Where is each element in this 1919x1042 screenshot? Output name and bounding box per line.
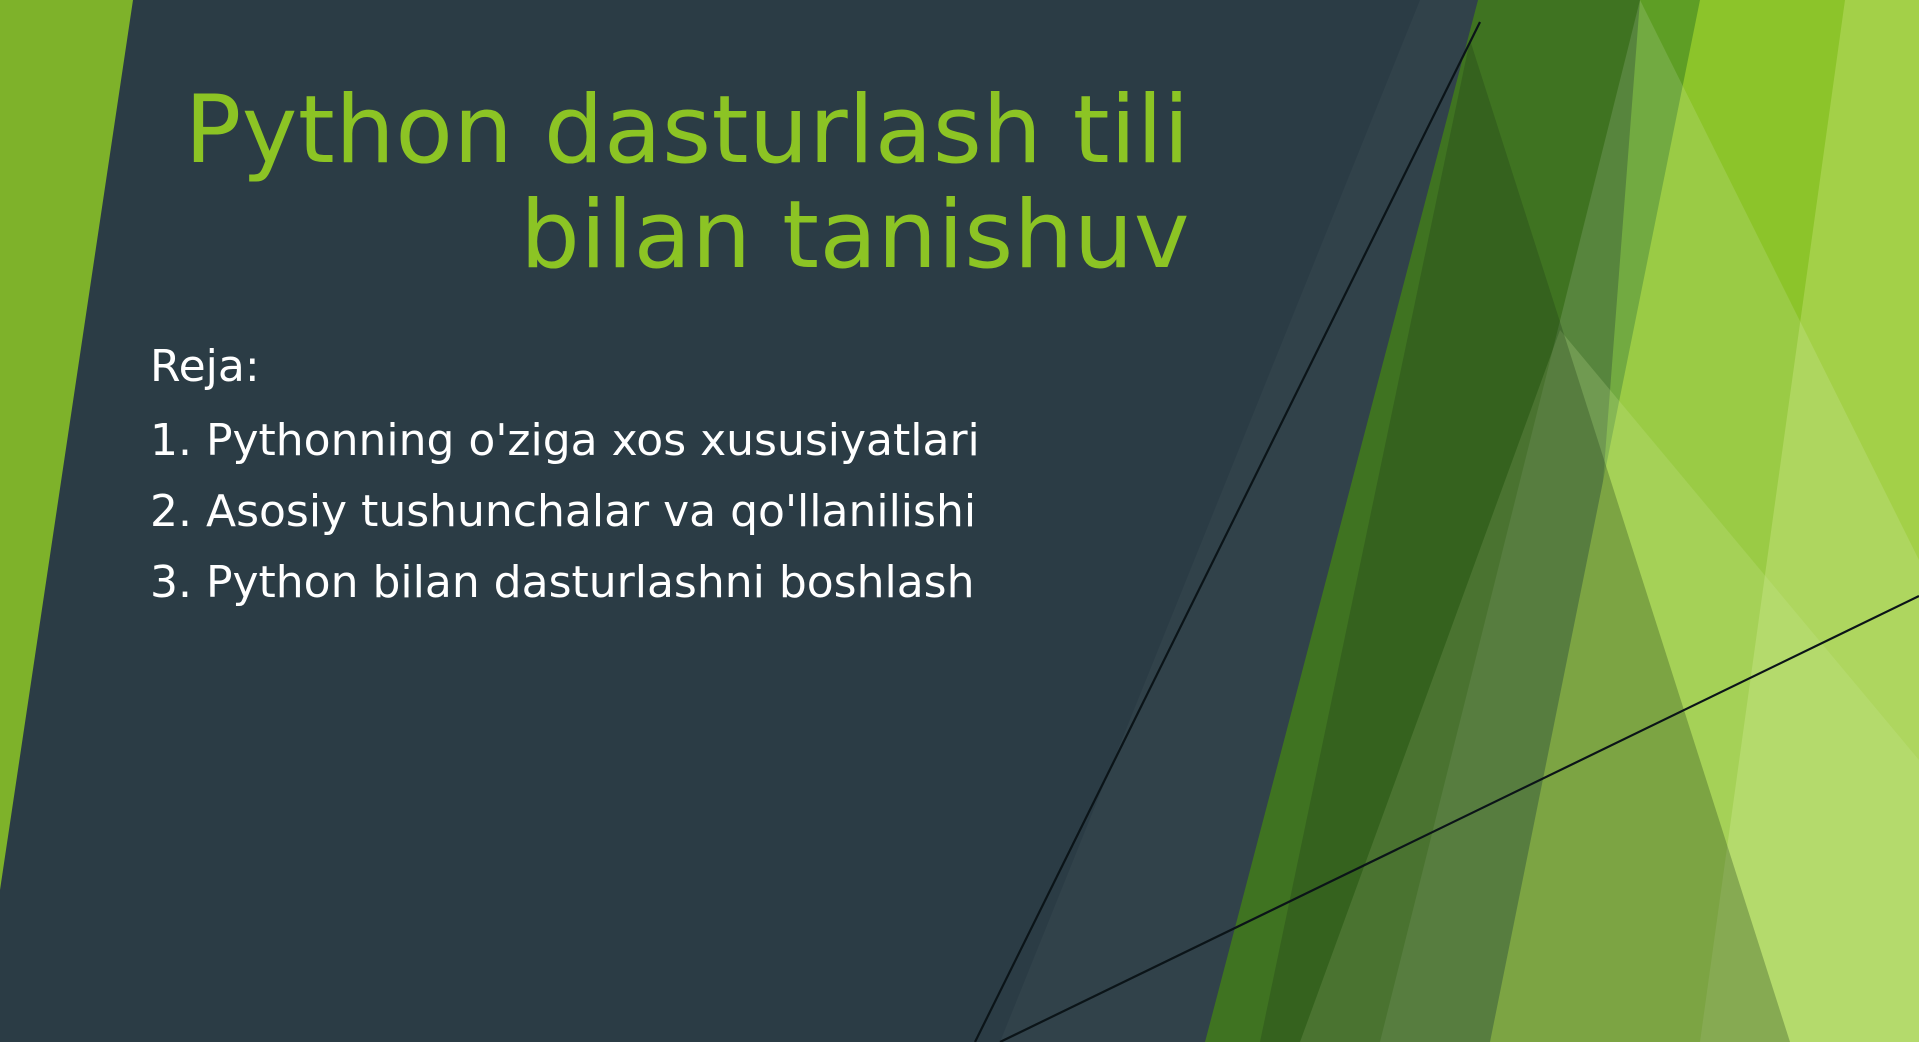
slide-content: Python dasturlash tili bilan tanishuv Re… bbox=[0, 0, 1919, 1042]
slide-title: Python dasturlash tili bilan tanishuv bbox=[150, 78, 1190, 289]
title-line-2: bilan tanishuv bbox=[150, 183, 1190, 288]
agenda-item-1: 1. Pythonning o'ziga xos xususiyatlari bbox=[150, 419, 1150, 463]
body-lead-label: Reja: bbox=[150, 345, 1150, 389]
agenda-item-2: 2. Asosiy tushunchalar va qo'llanilishi bbox=[150, 490, 1150, 534]
agenda-item-3: 3. Python bilan dasturlashni boshlash bbox=[150, 561, 1150, 605]
presentation-slide: Python dasturlash tili bilan tanishuv Re… bbox=[0, 0, 1919, 1042]
slide-body: Reja: 1. Pythonning o'ziga xos xususiyat… bbox=[150, 345, 1150, 605]
title-line-1: Python dasturlash tili bbox=[150, 78, 1190, 183]
